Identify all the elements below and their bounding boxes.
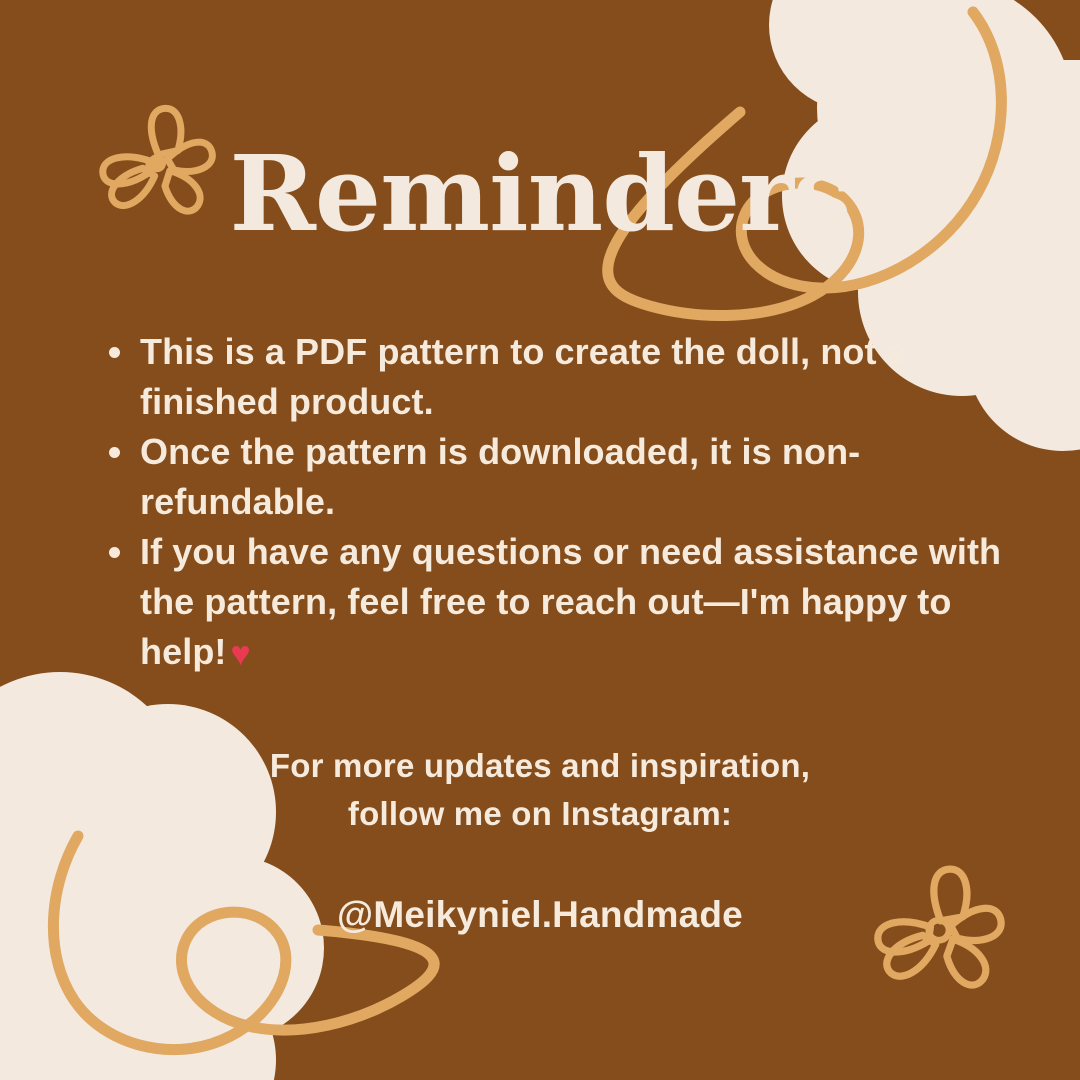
footer-line-1: For more updates and inspiration, bbox=[0, 742, 1080, 790]
list-item: Once the pattern is downloaded, it is no… bbox=[100, 427, 1030, 527]
footer-line-2: follow me on Instagram: bbox=[0, 790, 1080, 838]
poster-canvas: Reminders This is a PDF pattern to creat… bbox=[0, 0, 1080, 1080]
footer-container: For more updates and inspiration, follow… bbox=[0, 742, 1080, 939]
reminders-list: This is a PDF pattern to create the doll… bbox=[100, 327, 1030, 677]
page-title-container: Reminders bbox=[0, 142, 1080, 246]
heart-icon: ♥ bbox=[227, 635, 251, 673]
list-item-text: Once the pattern is downloaded, it is no… bbox=[140, 431, 860, 522]
list-item: If you have any questions or need assist… bbox=[100, 527, 1030, 677]
list-item-text: If you have any questions or need assist… bbox=[140, 531, 1001, 672]
page-title: Reminders bbox=[230, 142, 851, 246]
list-item-text: This is a PDF pattern to create the doll… bbox=[140, 331, 907, 422]
instagram-handle: @Meikyniel.Handmade bbox=[0, 891, 1080, 939]
list-item: This is a PDF pattern to create the doll… bbox=[100, 327, 1030, 427]
